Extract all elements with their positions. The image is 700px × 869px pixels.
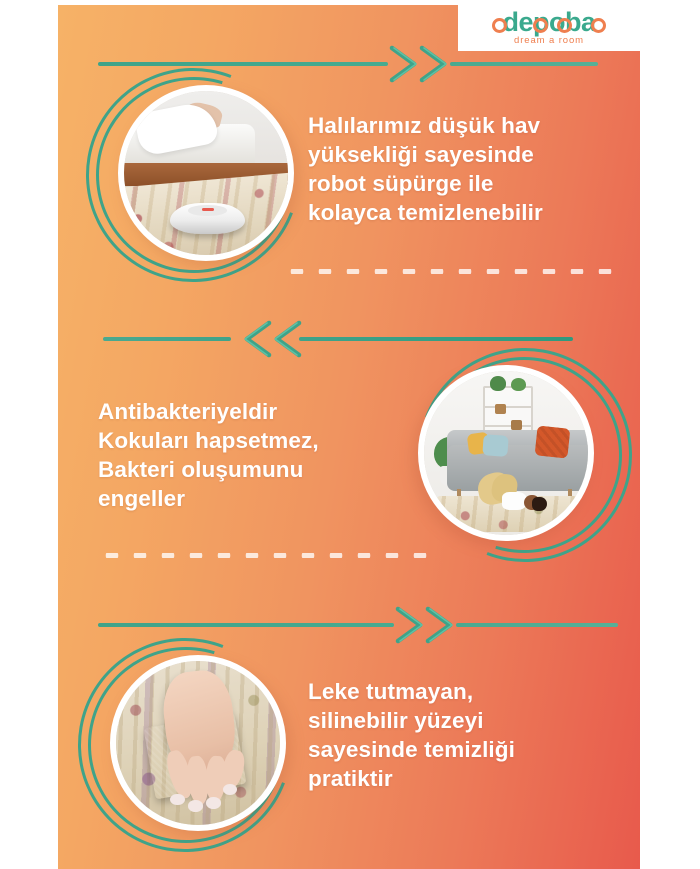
arrow-line-right <box>456 623 618 627</box>
logo-dot-icon <box>492 18 507 33</box>
dotted-divider-2 <box>98 553 428 558</box>
copy-line: pratiktir <box>308 764 628 793</box>
section-text-3: Leke tutmayan, silinebilir yüzeyi sayesi… <box>308 677 628 793</box>
copy-line: sayesinde temizliği <box>308 735 628 764</box>
section-image-2 <box>418 365 594 541</box>
copy-line: Kokuları hapsetmez, <box>98 426 408 455</box>
copy-line: engeller <box>98 484 408 513</box>
infographic-poster: depoba dream a room <box>58 5 640 869</box>
copy-line: Halılarımız düşük hav <box>308 111 628 140</box>
copy-line: Bakteri oluşumunu <box>98 455 408 484</box>
arrow-line-left <box>98 623 394 627</box>
section-text-2: Antibakteriyeldir Kokuları hapsetmez, Ba… <box>98 397 408 513</box>
copy-line: robot süpürge ile <box>308 169 628 198</box>
copy-line: kolayca temizlenebilir <box>308 198 628 227</box>
copy-line: Leke tutmayan, <box>308 677 628 706</box>
copy-line: silinebilir yüzeyi <box>308 706 628 735</box>
section-image-1 <box>118 85 294 261</box>
arrow-line-right <box>450 62 598 66</box>
section-text-1: Halılarımız düşük hav yüksekliği sayesin… <box>308 111 628 227</box>
logo-wordmark: depoba <box>485 10 613 36</box>
logo-dot-icon <box>557 18 572 33</box>
section-image-3 <box>110 655 286 831</box>
circle-photo-living-room <box>418 365 594 541</box>
arrow-line-right <box>299 337 573 341</box>
arrow-line-left <box>98 62 388 66</box>
logo-dot-icon <box>591 18 606 33</box>
copy-line: Antibakteriyeldir <box>98 397 408 426</box>
logo-dot-icon <box>533 18 548 33</box>
dotted-divider-1 <box>283 269 623 274</box>
circle-photo-hand-wiping <box>110 655 286 831</box>
copy-line: yüksekliği sayesinde <box>308 140 628 169</box>
arrow-line-left <box>103 337 231 341</box>
circle-photo-robot-vacuum <box>118 85 294 261</box>
